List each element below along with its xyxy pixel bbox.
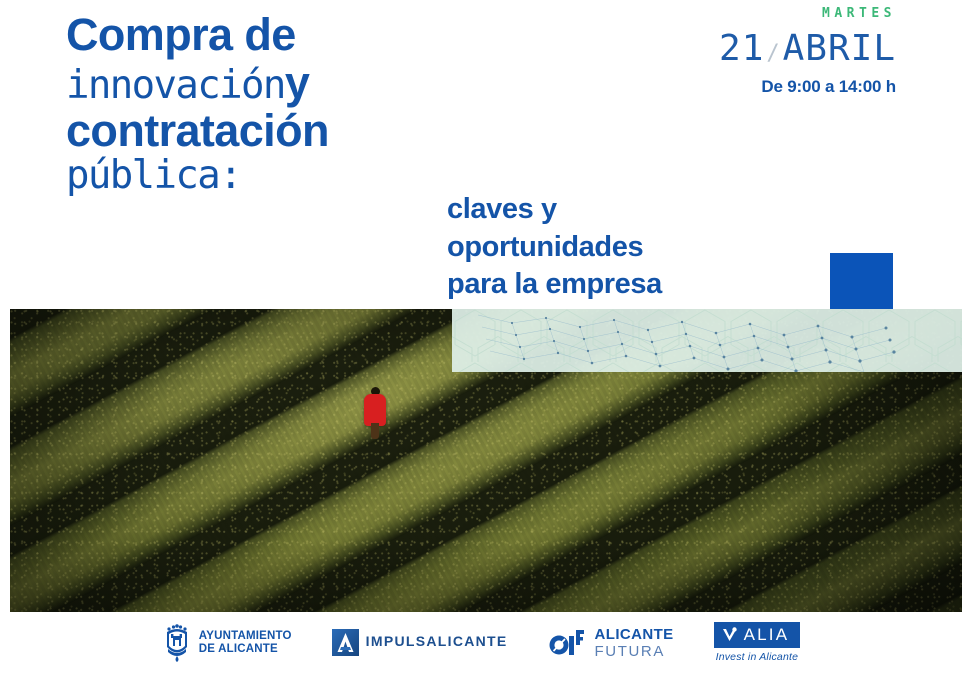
date-block: MARTES 21/ABRIL De 9:00 a 14:00 h: [719, 6, 896, 97]
alicante-crest-icon: [162, 623, 192, 663]
alia-tagline: Invest in Alicante: [714, 651, 799, 663]
sponsor-logo-bar: AYUNTAMIENTO DE ALICANTE IMPULSALICANTE: [0, 612, 962, 673]
blue-square-accent: [830, 253, 893, 309]
time-range: De 9:00 a 14:00 h: [719, 77, 896, 97]
impulsalicante-name: IMPULSALICANTE: [366, 633, 508, 649]
alicante-futura-word-1: ALICANTE: [595, 626, 674, 643]
day-number: 21: [719, 28, 764, 69]
ayuntamiento-wordmark: AYUNTAMIENTO DE ALICANTE: [199, 630, 292, 654]
weekday-label: MARTES: [719, 6, 896, 21]
person-red-coat: [364, 394, 386, 426]
logo-alia[interactable]: ALIA Invest in Alicante: [714, 622, 801, 663]
person-legs: [371, 423, 379, 439]
event-poster: Compra de innovacióny contratación públi…: [0, 0, 962, 673]
logo-ayuntamiento-de-alicante[interactable]: AYUNTAMIENTO DE ALICANTE: [162, 623, 292, 663]
ayuntamiento-line-1: AYUNTAMIENTO: [199, 630, 292, 642]
subtitle-line-3: para la empresa: [447, 266, 777, 304]
headline-line-3: contratación: [66, 108, 486, 154]
alicante-futura-monogram-icon: [548, 627, 588, 659]
walking-person-figure: [362, 387, 388, 439]
alicante-futura-wordmark: ALICANTE FUTURA: [595, 626, 674, 660]
headline-line-2-conjunction: y: [285, 57, 309, 108]
hero-photo: [10, 309, 962, 612]
headline-line-2: innovacióny: [66, 60, 486, 106]
date-line: 21/ABRIL: [719, 28, 896, 69]
subtitle-block: claves y oportunidades para la empresa: [447, 191, 777, 304]
headline-block: Compra de innovacióny contratación públi…: [66, 12, 486, 195]
mint-overlay-band: [452, 309, 962, 372]
impulsalicante-mark-icon: [332, 629, 359, 656]
logo-alicante-futura[interactable]: ALICANTE FUTURA: [548, 626, 674, 660]
month-name: ABRIL: [783, 28, 896, 69]
subtitle-line-1: claves y: [447, 191, 777, 229]
logo-impulsalicante[interactable]: IMPULSALICANTE: [332, 629, 508, 656]
impulsalicante-wordmark: IMPULSALICANTE: [366, 634, 508, 651]
alia-name: ALIA: [744, 625, 790, 645]
date-separator: /: [764, 41, 782, 66]
ayuntamiento-line-2: DE ALICANTE: [199, 643, 292, 655]
alia-badge: ALIA: [714, 622, 801, 648]
alia-check-v-icon: [721, 626, 739, 644]
subtitle-line-2: oportunidades: [447, 229, 777, 267]
headline-line-2-mono: innovación: [66, 63, 285, 108]
headline-line-1: Compra de: [66, 12, 486, 58]
headline-line-4: pública:: [66, 156, 486, 196]
alicante-futura-word-2: FUTURA: [595, 643, 674, 660]
network-mesh-icon: [472, 309, 902, 372]
